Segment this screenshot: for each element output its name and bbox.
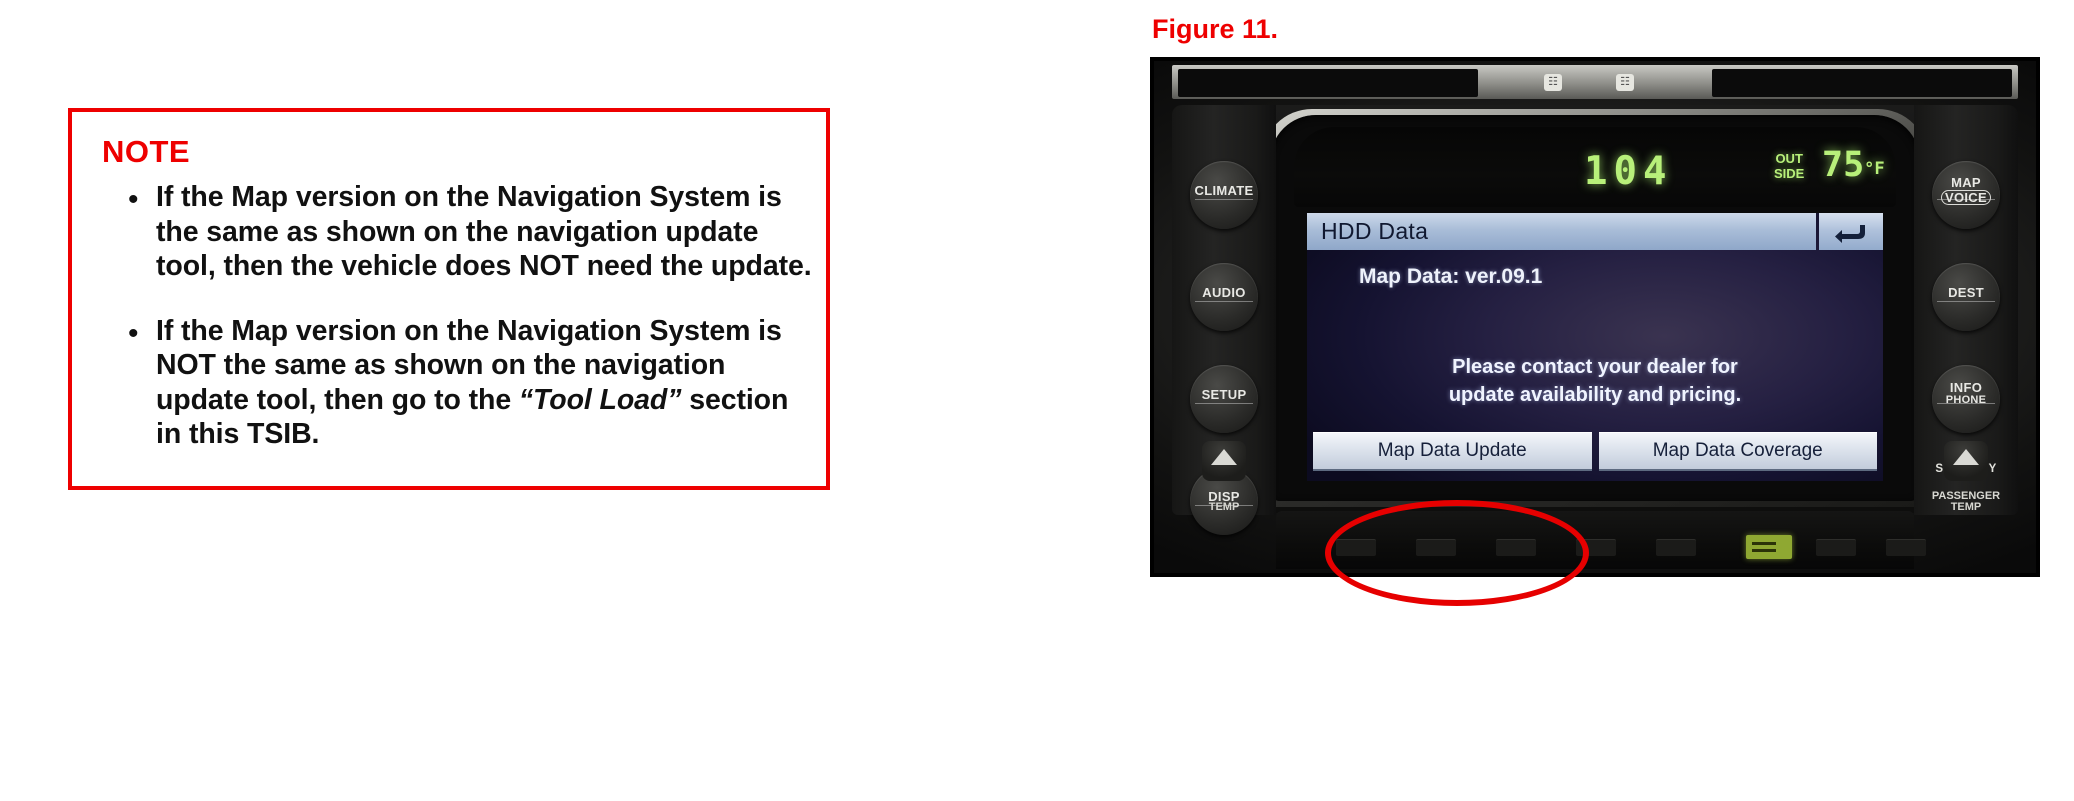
info-phone-button[interactable]: INFO PHONE	[1932, 365, 2000, 433]
navigation-screen[interactable]: HDD Data Map Data: ver.09.1 Please conta…	[1307, 213, 1883, 481]
map-data-update-button[interactable]: Map Data Update	[1313, 432, 1592, 471]
hvac-button[interactable]	[1496, 539, 1536, 556]
odometer-readout: 104	[1584, 149, 1672, 194]
phone-button-sublabel: PHONE	[1946, 394, 1987, 407]
map-voice-button[interactable]: MAP VOICE	[1932, 161, 2000, 229]
figure-caption: Figure 11.	[1152, 14, 1278, 45]
note-callout-box: NOTE • If the Map version on the Navigat…	[68, 108, 830, 490]
screw-icon: ☷	[1616, 74, 1634, 91]
hvac-display	[1746, 535, 1792, 559]
dash-vent-left	[1178, 69, 1478, 97]
note-bullet-list: • If the Map version on the Navigation S…	[128, 180, 818, 482]
note-bullet-text: If the Map version on the Navigation Sys…	[156, 180, 818, 284]
dashboard-photo: ☷ ☷ 104 OUT SIDE 75°F HDD Data	[1154, 61, 2036, 573]
hvac-button[interactable]	[1816, 539, 1856, 556]
list-item: • If the Map version on the Navigation S…	[128, 180, 818, 284]
map-data-coverage-button[interactable]: Map Data Coverage	[1599, 432, 1878, 471]
hvac-button[interactable]	[1886, 539, 1926, 556]
bullet-icon: •	[128, 180, 156, 220]
nav-message-line1: Please contact your dealer for	[1307, 353, 1883, 381]
temp-unit: °F	[1864, 159, 1884, 179]
bullet-icon: •	[128, 314, 156, 354]
hvac-button[interactable]	[1576, 539, 1616, 556]
outside-temp-label: OUT SIDE	[1774, 151, 1804, 181]
passenger-temp-line2: TEMP	[1951, 501, 1982, 513]
screw-icon: ☷	[1544, 74, 1562, 91]
dash-vent-right	[1712, 69, 2012, 97]
driver-temp-label: TEMP	[1209, 502, 1240, 513]
nav-title-bar: HDD Data	[1307, 213, 1883, 250]
driver-temp-up-button[interactable]	[1202, 441, 1246, 481]
right-button-panel: MAP VOICE DEST INFO PHONE SECURITY PASSE…	[1914, 105, 2018, 515]
chevron-up-icon	[1953, 449, 1979, 465]
nav-title-container: HDD Data	[1307, 213, 1816, 250]
passenger-temp-up-button[interactable]	[1944, 441, 1988, 481]
hvac-control-strip	[1276, 511, 1914, 569]
outside-label-line1: OUT	[1775, 151, 1802, 166]
figure-image-frame: ☷ ☷ 104 OUT SIDE 75°F HDD Data	[1150, 57, 2040, 577]
note-title: NOTE	[102, 134, 190, 170]
voice-button-sublabel: VOICE	[1941, 190, 1991, 205]
info-display-strip: 104 OUT SIDE 75°F	[1294, 127, 1896, 207]
page-title: HDD Data	[1321, 218, 1428, 245]
left-button-panel: CLIMATE AUDIO SETUP DISP TEMP	[1172, 105, 1276, 515]
outside-label-line2: SIDE	[1774, 166, 1804, 181]
hvac-button[interactable]	[1336, 539, 1376, 556]
nav-button-row: Map Data Update Map Data Coverage	[1313, 432, 1877, 471]
setup-button-label: SETUP	[1202, 388, 1247, 401]
climate-button[interactable]: CLIMATE	[1190, 161, 1258, 229]
dest-button-label: DEST	[1948, 286, 1984, 299]
dest-button[interactable]: DEST	[1932, 263, 2000, 331]
audio-button[interactable]: AUDIO	[1190, 263, 1258, 331]
climate-button-label: CLIMATE	[1195, 184, 1254, 197]
list-item: • If the Map version on the Navigation S…	[128, 314, 818, 452]
hvac-button[interactable]	[1656, 539, 1696, 556]
map-data-version: Map Data: ver.09.1	[1359, 265, 1542, 289]
note-bullet-text: If the Map version on the Navigation Sys…	[156, 314, 818, 452]
passenger-temp-label: PASSENGER TEMP	[1932, 491, 2000, 513]
nav-message-line2: update availability and pricing.	[1307, 381, 1883, 409]
bullet-text-segment: If the Map version on the Navigation Sys…	[156, 181, 812, 282]
map-button-label: MAP	[1951, 176, 1981, 189]
info-button-label: INFO	[1950, 381, 1982, 394]
back-button[interactable]	[1819, 213, 1883, 250]
nav-message: Please contact your dealer for update av…	[1307, 353, 1883, 409]
temp-number: 75	[1822, 145, 1864, 185]
outside-temp-readout: 75°F	[1822, 145, 1885, 185]
hvac-button[interactable]	[1416, 539, 1456, 556]
setup-button[interactable]: SETUP	[1190, 365, 1258, 433]
back-arrow-icon	[1834, 220, 1868, 244]
bullet-text-emphasis: “Tool Load”	[519, 384, 681, 416]
chevron-up-icon	[1211, 449, 1237, 465]
audio-button-label: AUDIO	[1202, 286, 1245, 299]
